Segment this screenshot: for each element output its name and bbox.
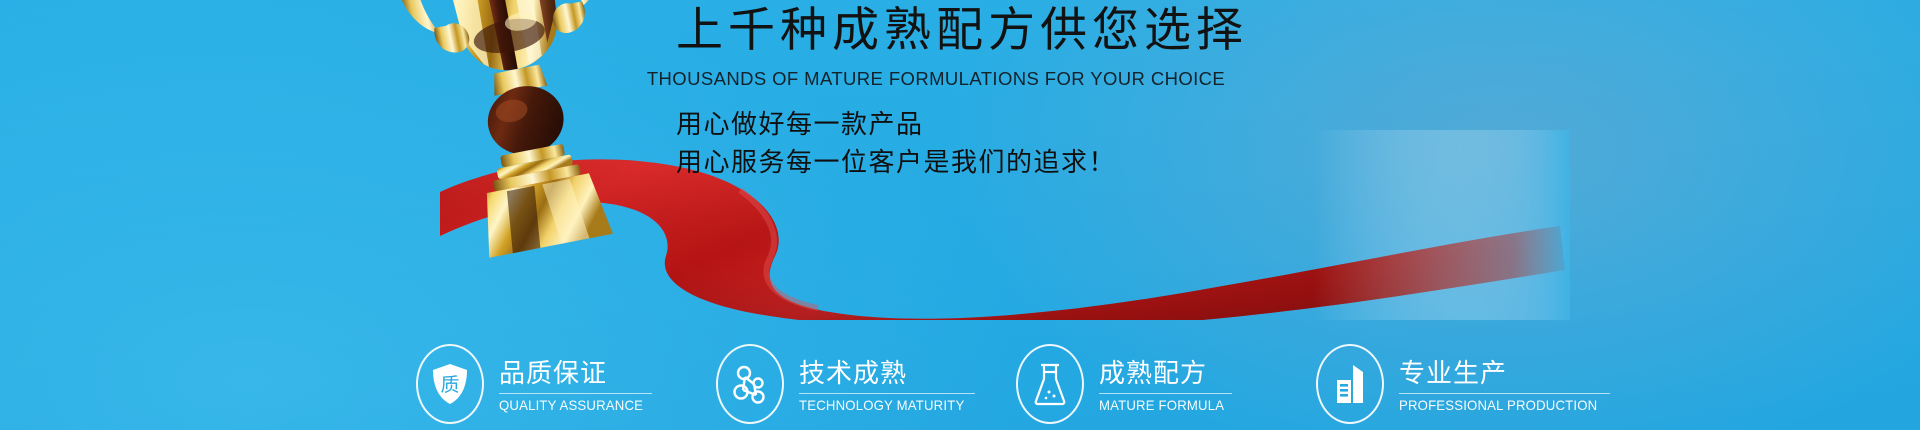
badge-label-cn: 专业生产 — [1399, 359, 1610, 389]
badge-label-en: QUALITY ASSURANCE — [499, 397, 643, 413]
page-subtitle: THOUSANDS OF MATURE FORMULATIONS FOR YOU… — [636, 68, 1236, 90]
badge-divider — [1399, 393, 1610, 394]
badge-label-en: TECHNOLOGY MATURITY — [799, 397, 964, 413]
flask-icon — [1016, 344, 1084, 424]
badge-divider — [1099, 393, 1232, 394]
badge-text-group: 专业生产 PROFESSIONAL PRODUCTION — [1399, 356, 1610, 413]
badge-label-cn: 品质保证 — [499, 359, 652, 389]
promo-banner: 上千种成熟配方供您选择 THOUSANDS OF MATURE FORMULAT… — [0, 0, 1920, 430]
feature-badge-row: 质 品质保证 QUALITY ASSURANCE — [416, 344, 1616, 424]
badge-label-cn: 技术成熟 — [799, 359, 975, 389]
body-copy: 用心做好每一款产品 用心服务每一位客户是我们的追求！ — [676, 106, 1116, 182]
feature-badge-quality-assurance: 质 品质保证 QUALITY ASSURANCE — [416, 344, 716, 424]
feature-badge-professional-production: 专业生产 PROFESSIONAL PRODUCTION — [1316, 344, 1616, 424]
body-line-1: 用心做好每一款产品 — [676, 106, 1116, 144]
page-title: 上千种成熟配方供您选择 — [676, 6, 1196, 56]
molecule-icon — [716, 344, 784, 424]
badge-label-cn: 成熟配方 — [1099, 359, 1232, 389]
badge-divider — [799, 393, 975, 394]
badge-text-group: 技术成熟 TECHNOLOGY MATURITY — [799, 356, 975, 413]
body-line-2: 用心服务每一位客户是我们的追求！ — [676, 144, 1116, 182]
building-icon — [1316, 344, 1384, 424]
shield-quality-icon: 质 — [416, 344, 484, 424]
gold-trophy-image — [330, 0, 660, 258]
badge-label-en: MATURE FORMULA — [1099, 397, 1224, 413]
badge-label-en: PROFESSIONAL PRODUCTION — [1399, 397, 1597, 413]
shield-icon-char: 质 — [440, 374, 459, 396]
badge-divider — [499, 393, 652, 394]
badge-text-group: 品质保证 QUALITY ASSURANCE — [499, 356, 652, 413]
feature-badge-mature-formula: 成熟配方 MATURE FORMULA — [1016, 344, 1316, 424]
badge-text-group: 成熟配方 MATURE FORMULA — [1099, 356, 1232, 413]
feature-badge-technology-maturity: 技术成熟 TECHNOLOGY MATURITY — [716, 344, 1016, 424]
